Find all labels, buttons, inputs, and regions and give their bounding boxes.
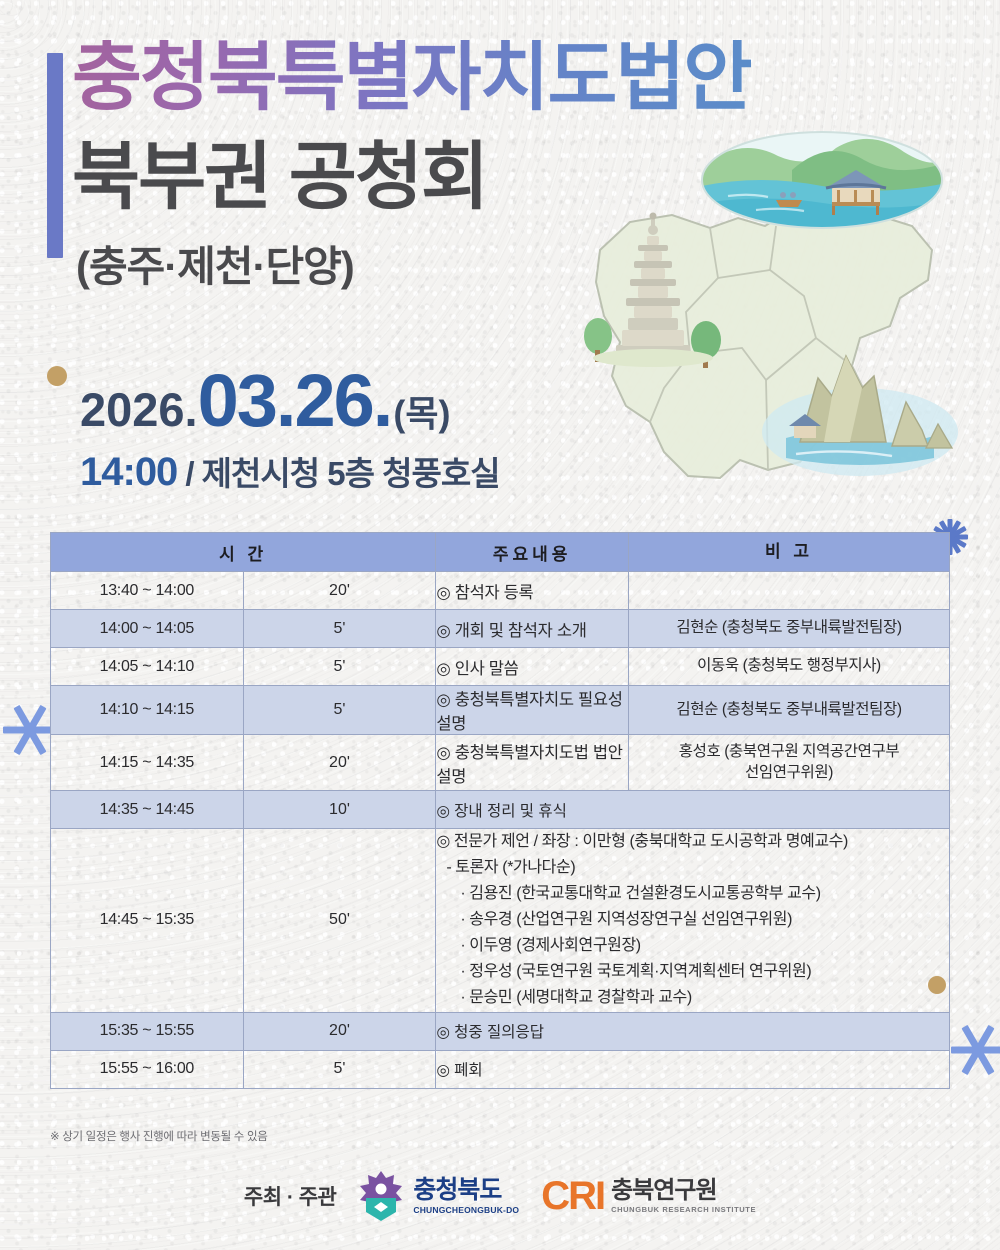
table-row: 14:00 ~ 14:05 5' ◎ 개회 및 참석자 소개 김현순 (충청북도… — [51, 610, 950, 648]
chungbuk-map-illustration — [560, 130, 990, 550]
panel-member: · 이두영 (경제사회연구원장) — [436, 933, 949, 959]
cri-mark: CRI — [541, 1178, 604, 1214]
cell-duration: 5' — [243, 610, 436, 648]
page-title-line1: 충청북특별자치도법안 — [72, 40, 751, 116]
cell-time: 14:10 ~ 14:15 — [51, 686, 244, 735]
event-year: 2026. — [80, 382, 198, 437]
table-header-row: 시 간 주요내용 비 고 — [51, 533, 950, 572]
table-row: 13:40 ~ 14:00 20' ◎ 참석자 등록 — [51, 572, 950, 610]
province-emblem-icon — [358, 1170, 404, 1222]
column-header-remark: 비 고 — [629, 533, 950, 572]
cri-logo-text: 충북연구원 CHUNGBUK RESEARCH INSTITUTE — [611, 1179, 756, 1214]
lake-pavilion-scene — [702, 132, 942, 228]
event-date-row: 2026. 03.26. (목) — [80, 368, 450, 437]
cell-content: ◎ 충청북특별자치도 필요성 설명 — [436, 686, 629, 735]
cell-content: ◎ 참석자 등록 — [436, 572, 629, 610]
map-illustration-svg — [560, 130, 990, 550]
cell-content: ◎ 충청북특별자치도법 법안 설명 — [436, 735, 629, 791]
table-row: 14:15 ~ 14:35 20' ◎ 충청북특별자치도법 법안 설명 홍성호 … — [51, 735, 950, 791]
cell-duration: 10' — [243, 791, 436, 829]
panel-chair-line: ◎ 전문가 제언 / 좌장 : 이만형 (충북대학교 도시공학과 명예교수) — [436, 829, 949, 855]
panel-group-line: - 토론자 (*가나다순) — [436, 855, 949, 881]
footer-logos: 주최 · 주관 충청북도 CHUNGCHEONGBUK-DO CRI 충북연구원… — [0, 1170, 1000, 1222]
cri-name-kr: 충북연구원 — [611, 1179, 756, 1203]
cell-duration: 50' — [243, 829, 436, 1013]
province-name-kr: 충청북도 — [413, 1178, 519, 1203]
cell-time: 14:45 ~ 15:35 — [51, 829, 244, 1013]
cell-panel-content: ◎ 전문가 제언 / 좌장 : 이만형 (충북대학교 도시공학과 명예교수) -… — [436, 829, 950, 1013]
cri-logo: CRI 충북연구원 CHUNGBUK RESEARCH INSTITUTE — [541, 1178, 756, 1214]
column-header-content: 주요내용 — [436, 533, 629, 572]
province-emblem-svg — [358, 1170, 404, 1222]
page-subtitle-regions: (충주·제천·단양) — [76, 246, 354, 288]
panel-member: · 정우성 (국토연구원 국토계획·지역계획센터 연구위원) — [436, 959, 949, 985]
title-accent-bar — [47, 53, 63, 258]
schedule-footnote: ※ 상기 일정은 행사 진행에 따라 변동될 수 있음 — [50, 1128, 268, 1144]
cell-remark: 홍성호 (충북연구원 지역공간연구부 선임연구위원) — [629, 735, 950, 791]
schedule-table-body: 13:40 ~ 14:00 20' ◎ 참석자 등록 14:00 ~ 14:05… — [51, 572, 950, 1089]
cell-time: 14:15 ~ 14:35 — [51, 735, 244, 791]
table-row: 15:55 ~ 16:00 5' ◎ 폐회 — [51, 1050, 950, 1088]
table-row: 14:05 ~ 14:10 5' ◎ 인사 말씀 이동욱 (충청북도 행정부지사… — [51, 648, 950, 686]
cell-remark: 이동욱 (충청북도 행정부지사) — [629, 648, 950, 686]
host-label: 주최 · 주관 — [244, 1181, 336, 1211]
cell-remark: 김현순 (충청북도 중부내륙발전팀장) — [629, 686, 950, 735]
chungcheongbuk-do-logo: 충청북도 CHUNGCHEONGBUK-DO — [358, 1170, 519, 1222]
cell-content: ◎ 폐회 — [436, 1050, 950, 1088]
panel-member: · 문승민 (세명대학교 경찰학과 교수) — [436, 985, 949, 1011]
event-date: 03.26. — [198, 368, 392, 435]
cell-duration: 20' — [243, 1012, 436, 1050]
gold-dot-decoration-left — [47, 366, 67, 386]
event-time-row: 14:00 / 제천시청 5층 청풍호실 — [80, 447, 500, 495]
panel-member: · 김용진 (한국교통대학교 건설환경도시교통공학부 교수) — [436, 881, 949, 907]
cell-remark-line1: 홍성호 (충북연구원 지역공간연구부 — [629, 742, 949, 763]
schedule-table: 시 간 주요내용 비 고 13:40 ~ 14:00 20' ◎ 참석자 등록 … — [50, 532, 950, 1089]
cell-remark: 김현순 (충청북도 중부내륙발전팀장) — [629, 610, 950, 648]
cri-name-en: CHUNGBUK RESEARCH INSTITUTE — [611, 1205, 756, 1214]
cell-time: 15:55 ~ 16:00 — [51, 1050, 244, 1088]
table-row: 14:10 ~ 14:15 5' ◎ 충청북특별자치도 필요성 설명 김현순 (… — [51, 686, 950, 735]
province-name-en: CHUNGCHEONGBUK-DO — [413, 1205, 519, 1215]
panel-member: · 송우경 (산업연구원 지역성장연구실 선임연구위원) — [436, 907, 949, 933]
cell-time: 13:40 ~ 14:00 — [51, 572, 244, 610]
cell-duration: 20' — [243, 735, 436, 791]
asterisk-icon-bottom-right — [948, 1020, 1000, 1080]
event-venue: / 제천시청 5층 청풍호실 — [185, 447, 499, 495]
cell-content: ◎ 청중 질의응답 — [436, 1012, 950, 1050]
column-header-time: 시 간 — [51, 533, 436, 572]
cell-time: 15:35 ~ 15:55 — [51, 1012, 244, 1050]
cell-duration: 5' — [243, 1050, 436, 1088]
cell-time: 14:35 ~ 14:45 — [51, 791, 244, 829]
cell-time: 14:05 ~ 14:10 — [51, 648, 244, 686]
table-row: 15:35 ~ 15:55 20' ◎ 청중 질의응답 — [51, 1012, 950, 1050]
event-weekday: (목) — [393, 385, 450, 437]
cell-time: 14:00 ~ 14:05 — [51, 610, 244, 648]
page-title-line2: 북부권 공청회 — [72, 140, 487, 214]
cell-remark-line2: 선임연구위원) — [629, 763, 949, 784]
table-row: 14:35 ~ 14:45 10' ◎ 장내 정리 및 휴식 — [51, 791, 950, 829]
schedule-table-head: 시 간 주요내용 비 고 — [51, 533, 950, 572]
table-row-panel: 14:45 ~ 15:35 50' ◎ 전문가 제언 / 좌장 : 이만형 (충… — [51, 829, 950, 1013]
cell-content: ◎ 장내 정리 및 휴식 — [436, 791, 950, 829]
cell-duration: 5' — [243, 686, 436, 735]
event-time: 14:00 — [80, 450, 177, 495]
cell-duration: 5' — [243, 648, 436, 686]
cell-remark — [629, 572, 950, 610]
province-logo-text: 충청북도 CHUNGCHEONGBUK-DO — [413, 1178, 519, 1215]
cell-content: ◎ 인사 말씀 — [436, 648, 629, 686]
cell-content: ◎ 개회 및 참석자 소개 — [436, 610, 629, 648]
cell-duration: 20' — [243, 572, 436, 610]
